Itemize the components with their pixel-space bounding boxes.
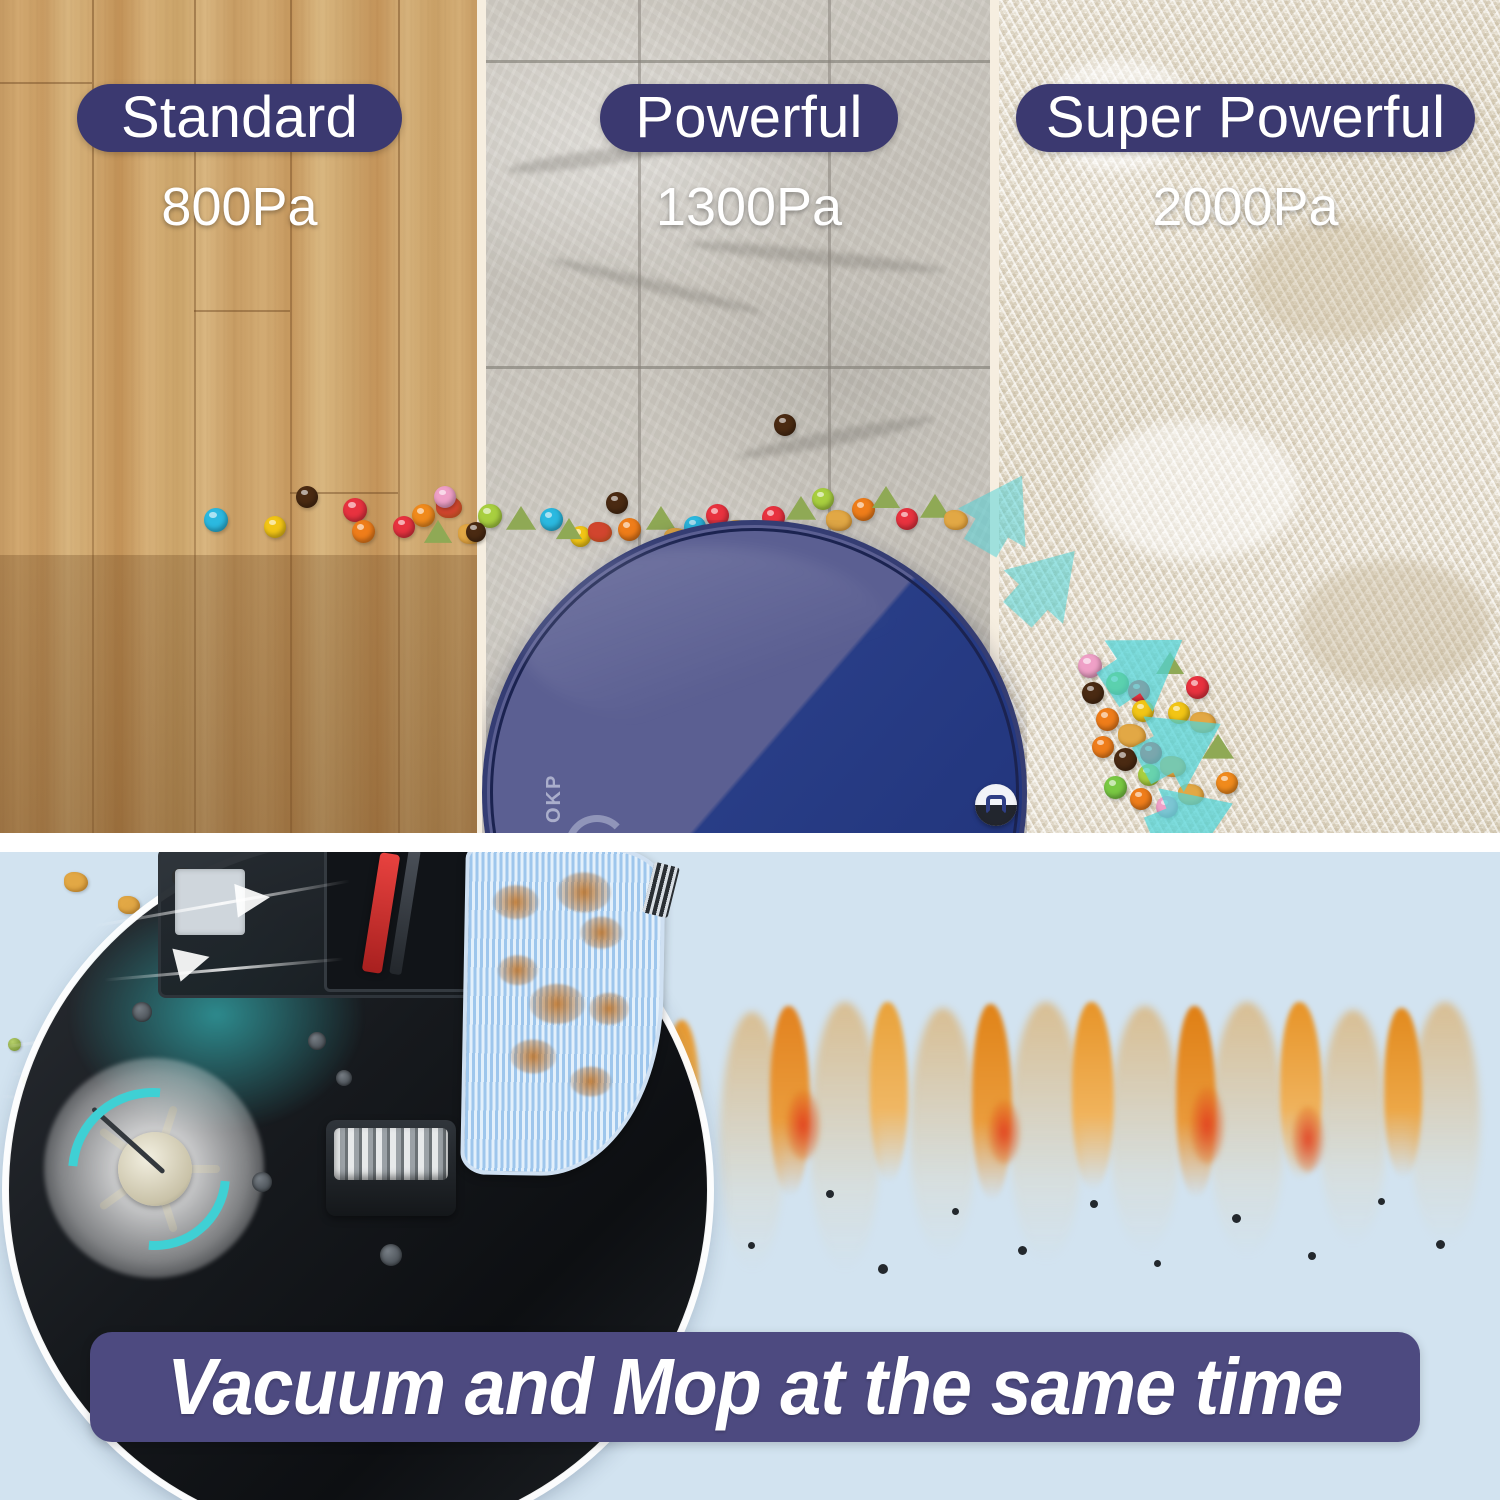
okp-brand-mark: OKP [531,781,651,833]
dried-stain-streaks [620,1002,1500,1382]
mop-dirt-patch [580,916,623,949]
robot-vacuum-top-view: OKP [482,520,1027,833]
headline-text: Vacuum and Mop at the same time [167,1347,1342,1427]
debris-ball [1082,682,1104,704]
dirt-speck [1436,1240,1445,1249]
debris-ball [296,486,318,508]
stain-smear [1110,1006,1180,1254]
plank-seam [0,82,92,84]
debris-ball [434,486,456,508]
brand-name-text: OKP [543,774,566,823]
stain-smear [910,1008,976,1258]
suction-value-powerful: 1300Pa [600,180,898,234]
hardwood-shadow-band [0,555,478,833]
mode-badge-powerful: Powerful [600,84,898,152]
stain-streak [1072,1002,1114,1190]
dirt-speck [1090,1200,1098,1208]
mode-badge-standard: Standard [77,84,402,152]
debris-ball [412,504,435,527]
debris-ball [1130,788,1152,810]
dirt-speck [1154,1260,1161,1267]
stain-core [988,1100,1020,1164]
stain-core [1190,1086,1224,1164]
debris-ball [606,492,628,514]
okp-spiral-logo-icon [565,815,629,833]
suction-value-standard: 800Pa [77,180,402,234]
debris-ball [812,488,834,510]
cliff-sensor [252,1172,272,1192]
cliff-sensor [308,1032,326,1050]
stain-smear [1010,1002,1082,1264]
headline-banner: Vacuum and Mop at the same time [90,1332,1420,1442]
floor-comparison-section: Standard 800Pa Powerful 1300Pa Super Pow… [0,0,1500,833]
debris-ball [774,414,796,436]
mop-dirt-patch [557,872,612,913]
stain-streak [1384,1008,1422,1178]
stain-smear [810,1002,880,1272]
carpet-clump [1249,220,1429,340]
dirt-speck [878,1264,888,1274]
cliff-sensor [380,1244,402,1266]
stain-core [1292,1106,1324,1172]
stain-core [786,1090,820,1160]
grout-line [486,366,991,369]
dirt-speck [1378,1198,1385,1205]
carpet-clump [1299,560,1489,690]
debris-ball [352,520,375,543]
plank-seam [194,310,290,312]
mop-dirt-patch [510,1039,557,1074]
debris-ball [1104,776,1127,799]
dirt-speck [1308,1252,1316,1260]
wheel-tread [334,1128,448,1180]
mop-dirt-patch [529,983,586,1024]
dirt-speck [1018,1246,1027,1255]
mop-dirt-patch [589,992,630,1025]
stain-streak [870,1002,908,1182]
debris-ball [852,498,875,521]
suction-value-super-powerful: 2000Pa [1016,180,1475,234]
robot-body: OKP [482,520,1027,833]
dirt-speck [826,1190,834,1198]
home-icon [986,795,1006,814]
debris-ball [1216,772,1238,794]
mode-badge-label: Standard [121,89,358,147]
stain-smear [1320,1010,1386,1246]
cliff-sensor [132,1002,152,1022]
carpet-clump [1089,420,1299,560]
home-button[interactable] [975,784,1017,826]
robot-gloss-highlight [519,546,894,728]
mode-badge-label: Powerful [635,89,862,147]
debris-ball [343,498,367,522]
mode-badge-super-powerful: Super Powerful [1016,84,1475,152]
mop-dirt-patch [570,1066,613,1097]
cliff-sensor [336,1070,352,1086]
robot-underside-cutaway [8,852,708,1280]
debris-ball [1096,708,1119,731]
drive-wheel [326,1120,456,1216]
dirt-speck [748,1242,755,1249]
mode-badge-label: Super Powerful [1046,89,1445,147]
grout-line [486,60,991,63]
debris-ball [204,508,228,532]
product-infographic: Standard 800Pa Powerful 1300Pa Super Pow… [0,0,1500,1500]
debris-ball [1092,736,1114,758]
debris-ball [1186,676,1209,699]
dirt-speck [952,1208,959,1215]
mop-dirt-patch [497,955,538,986]
debris-ball [264,516,286,538]
mop-dirt-patch [493,885,540,920]
dirt-speck [1232,1214,1241,1223]
